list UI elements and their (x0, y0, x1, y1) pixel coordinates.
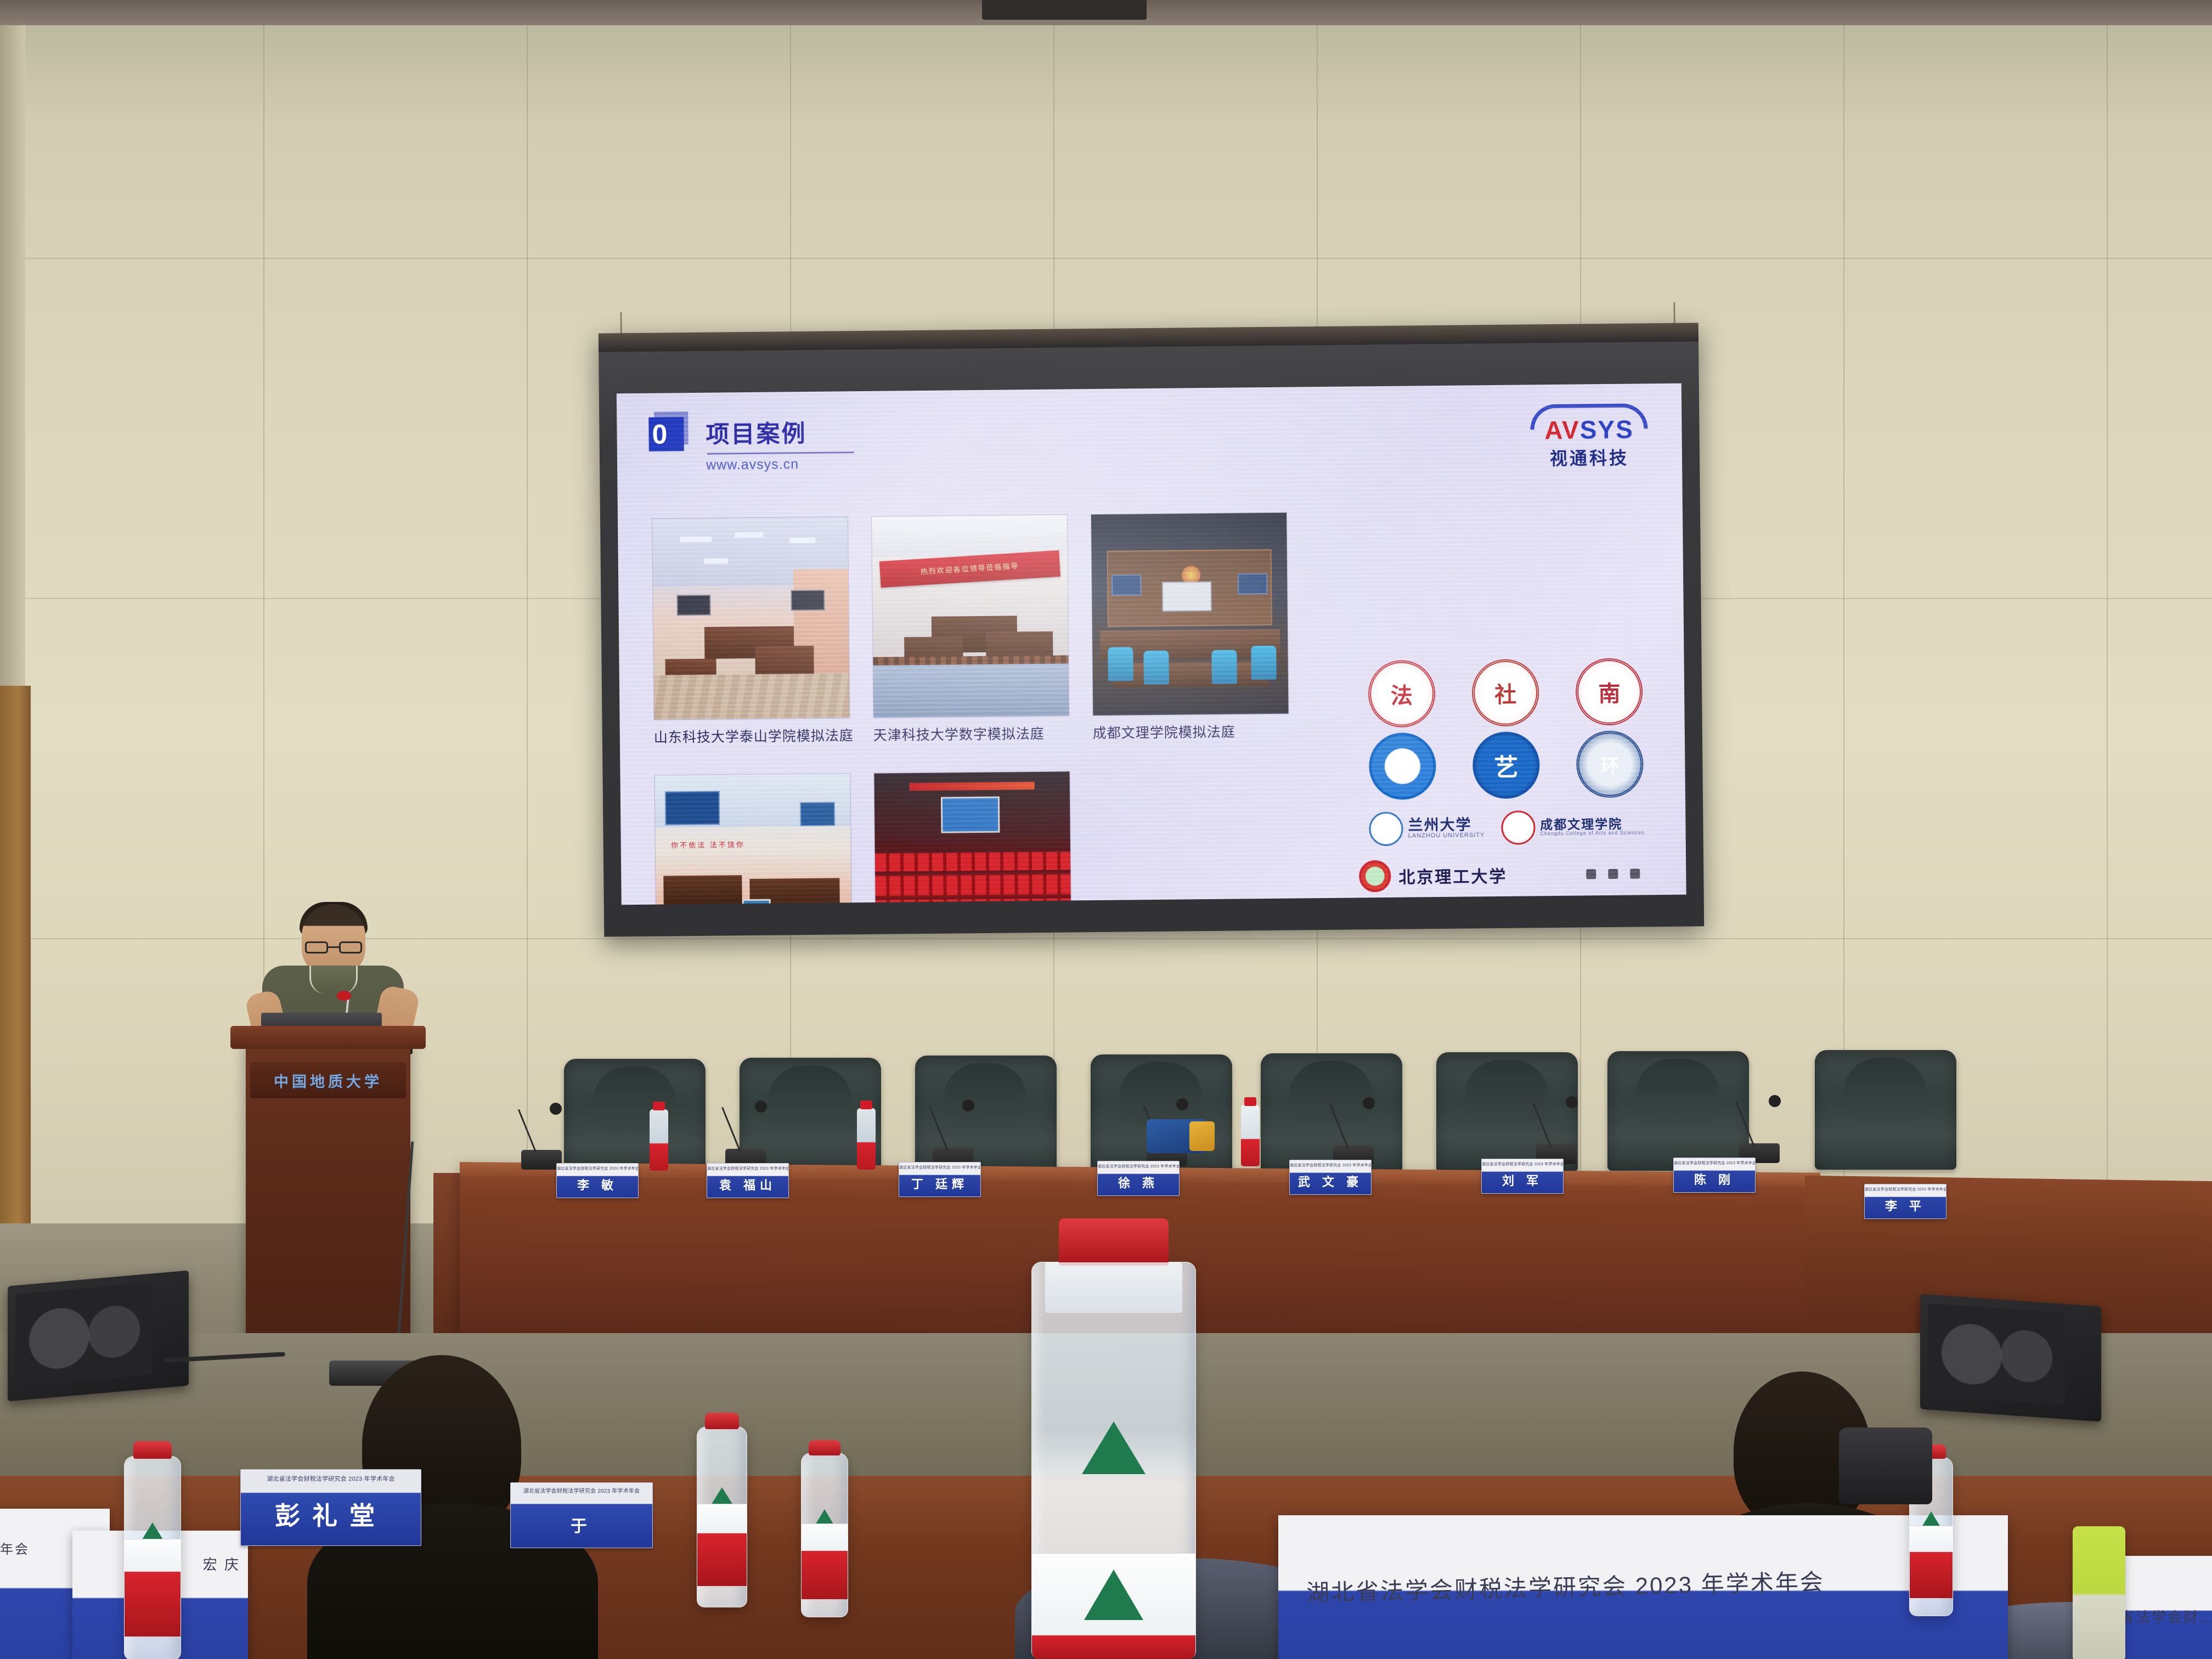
projection-screen: 03 项目案例 www.avsys.cn AVSYS 视通科技 (599, 323, 1704, 936)
case-photo-item: 湖南工商大学模拟法庭 (873, 771, 1072, 905)
presenter-head (302, 904, 365, 975)
foreground-event-banner-text: 湖北省法学会财税法学研究会 2023 年学术年会 (1277, 1508, 2008, 1612)
foreground-name-card-peng-subtitle: 湖北省法学会财税法学研究会 2023 年学术年会 (241, 1474, 421, 1483)
case-photo-item: 成都文理学院模拟法庭 (1091, 512, 1289, 742)
stage-monitor-speaker-left (8, 1271, 189, 1402)
water-bottle (1241, 1105, 1260, 1166)
stage-name-card: 湖北省法学会财税法学研究会 2023 年学术年会 李 平 (1864, 1184, 1946, 1219)
title-underline (707, 452, 854, 455)
stage-name-card-name: 李 平 (1885, 1197, 1926, 1214)
stage-name-card: 湖北省法学会财税法学研究会 2023 年学术年会 陈 刚 (1673, 1158, 1756, 1193)
microphone-head-icon (1363, 1097, 1375, 1109)
client-seal-5: 艺 (1472, 731, 1540, 799)
handbag-accent (1189, 1121, 1215, 1151)
case-photo-thumb-1 (652, 516, 850, 720)
foreground-green-bottle (2073, 1526, 2125, 1659)
ceiling-vent (982, 0, 1147, 20)
foreground-event-banner: 湖北省法学会财税法学研究会 2023 年学术年会 (1278, 1515, 2008, 1659)
foreground-name-card-third-subtitle: 湖北省法学会财税法学研究会 2023 年学术年会 (511, 1486, 652, 1494)
side-door-frame (0, 686, 31, 1256)
slide-title: 项目案例 (706, 414, 854, 450)
microphone-base (521, 1150, 562, 1170)
stage-name-card-subtitle: 湖北省法学会财税法学研究会 2023 年学术年会 (899, 1165, 980, 1170)
stage-chair (1261, 1053, 1402, 1173)
case-photo-thumb-5 (873, 771, 1072, 905)
case-photo-grid: 山东科技大学泰山学院模拟法庭 热烈欢迎各位领导莅临指导 (652, 512, 1304, 905)
case-photo-caption-2: 天津科技大学数字模拟法庭 (873, 723, 1070, 744)
foreground-water-bottle-center-left (697, 1426, 747, 1607)
client-seal-1: 法 (1368, 660, 1435, 727)
avsys-arc-icon (1530, 403, 1647, 430)
client-logo-wall: 法 社 南 工 艺 环 兰州大学 LANZHOU UNIVERSITY (1352, 658, 1661, 892)
foreground-name-card-third-name: 于 (571, 1513, 592, 1543)
conference-hall-photo: 03 项目案例 www.avsys.cn AVSYS 视通科技 (0, 0, 2212, 1659)
client-university-1-en: LANZHOU UNIVERSITY (1408, 833, 1485, 840)
bit-seal-icon (1359, 860, 1391, 893)
stage-name-card-name: 徐 燕 (1118, 1173, 1159, 1191)
client-university-1: 兰州大学 LANZHOU UNIVERSITY (1369, 811, 1485, 846)
foreground-water-bottle-left (124, 1456, 181, 1659)
case-photo-item: 你不依法 法不饶你 灵武职业技术学校模拟法庭 (654, 773, 853, 905)
case-photo-caption-1: 山东科技大学泰山学院模拟法庭 (654, 725, 850, 746)
section-number-digit-2: 3 (668, 419, 684, 449)
stage-name-card-subtitle: 湖北省法学会财税法学研究会 2023 年学术年会 (1674, 1160, 1755, 1166)
podium-top-surface (230, 1026, 426, 1049)
pager-dots (1586, 868, 1661, 879)
client-university-2: 成都文理学院 Chengdu College of Arts and Scien… (1501, 809, 1645, 845)
stage-name-card: 湖北省法学会财税法学研究会 2023 年学术年会 李 敏 (556, 1163, 639, 1198)
client-seal-3: 南 (1576, 658, 1643, 725)
presenter-glasses-icon (305, 941, 362, 953)
presentation-slide: 03 项目案例 www.avsys.cn AVSYS 视通科技 (617, 383, 1686, 905)
microphone-head-icon (550, 1103, 562, 1115)
podium-microphone-head-icon (337, 991, 351, 1001)
stage-chair (564, 1059, 706, 1178)
microphone-head-icon (1566, 1096, 1578, 1108)
client-university-2-cn: 成都文理学院 (1540, 817, 1644, 832)
avsys-chinese-name: 视通科技 (1526, 444, 1652, 470)
foreground-name-card-third: 湖北省法学会财税法学研究会 2023 年学术年会 于 (510, 1482, 653, 1548)
pager-dot (1608, 869, 1618, 879)
stage-name-card: 湖北省法学会财税法学研究会 2023 年学术年会 武 文 豪 (1289, 1160, 1372, 1195)
stage-monitor-speaker-right (1920, 1294, 2101, 1421)
stage-name-card-subtitle: 湖北省法学会财税法学研究会 2023 年学术年会 (557, 1166, 638, 1171)
chengdu-seal-icon (1501, 810, 1536, 845)
stage-chair (1607, 1051, 1749, 1171)
stage-name-card: 湖北省法学会财税法学研究会 2023 年学术年会 刘 军 (1481, 1159, 1564, 1194)
podium-plaque: 中国地质大学 (250, 1062, 406, 1098)
stage-name-card-subtitle: 湖北省法学会财税法学研究会 2023 年学术年会 (707, 1166, 788, 1171)
podium: 中国地质大学 (246, 1037, 410, 1344)
microphone-head-icon (755, 1101, 767, 1113)
stage-name-card-subtitle: 湖北省法学会财税法学研究会 2023 年学术年会 (1865, 1187, 1946, 1192)
lanzhou-seal-icon (1369, 812, 1403, 847)
stage-name-card-subtitle: 湖北省法学会财税法学研究会 2023 年学术年会 (1290, 1163, 1371, 1168)
water-bottle (857, 1108, 876, 1170)
foreground-name-card-peng: 湖北省法学会财税法学研究会 2023 年学术年会 彭礼堂 (240, 1469, 421, 1546)
pager-dot (1630, 868, 1640, 878)
client-seal-6: 环 (1576, 730, 1644, 798)
client-university-2-en: Chengdu College of Arts and Sciences (1540, 831, 1644, 837)
case-photo-thumb-4: 你不依法 法不饶你 (654, 773, 853, 905)
featured-university-name: 北京理工大学 (1398, 863, 1507, 888)
foreground-water-bottle-main (1031, 1262, 1196, 1659)
stage-chair (1815, 1050, 1956, 1170)
case-photo-thumb-3 (1091, 512, 1289, 716)
client-seal-4: 工 (1368, 732, 1436, 800)
section-number-badge: 03 (648, 415, 694, 455)
foreground-name-card-peng-name: 彭礼堂 (275, 1496, 387, 1541)
foreground-black-cup (1839, 1427, 1932, 1504)
foreground-water-bottle-center (801, 1453, 848, 1617)
microphone-head-icon (1176, 1098, 1188, 1110)
stage-name-card-name: 武 文 豪 (1298, 1172, 1363, 1190)
stage-name-card: 湖北省法学会财税法学研究会 2023 年学术年会 丁 廷辉 (899, 1162, 981, 1197)
client-seal-2: 社 (1472, 659, 1539, 726)
avsys-logo: AVSYS 视通科技 (1526, 403, 1652, 470)
microphone-head-icon (1769, 1095, 1781, 1107)
microphone-head-icon (962, 1099, 974, 1111)
case-photo-caption-3: 成都文理学院模拟法庭 (1093, 721, 1289, 742)
stage-name-card-name: 袁 福山 (719, 1176, 776, 1193)
pager-dot (1586, 869, 1596, 879)
stage-name-card-name: 刘 军 (1502, 1171, 1543, 1189)
photo-slogan-text: 你不依法 法不饶你 (671, 839, 745, 850)
presenter-collar (309, 966, 358, 994)
water-bottle (650, 1109, 668, 1171)
section-number-digit-1: 0 (652, 419, 668, 449)
case-photo-item: 热烈欢迎各位领导莅临指导 天津科技大学数字模拟法庭 (871, 514, 1070, 744)
podium-plaque-text: 中国地质大学 (274, 1070, 382, 1091)
client-university-1-cn: 兰州大学 (1408, 817, 1485, 833)
stage-name-card-name: 李 敏 (577, 1176, 618, 1193)
stage-name-card-subtitle: 湖北省法学会财税法学研究会 2023 年学术年会 (1482, 1161, 1563, 1167)
stage-name-card-name: 陈 刚 (1694, 1170, 1735, 1188)
screen-frame: 03 项目案例 www.avsys.cn AVSYS 视通科技 (599, 323, 1704, 936)
stage-name-card: 湖北省法学会财税法学研究会 2023 年学术年会 袁 福山 (707, 1163, 789, 1198)
case-photo-item: 山东科技大学泰山学院模拟法庭 (652, 516, 850, 746)
stage-name-card: 湖北省法学会财税法学研究会 2023 年学术年会 徐 燕 (1097, 1161, 1180, 1196)
stage-name-card-subtitle: 湖北省法学会财税法学研究会 2023 年学术年会 (1098, 1164, 1179, 1169)
stage-name-card-name: 丁 廷辉 (911, 1175, 968, 1192)
case-photo-thumb-2: 热烈欢迎各位领导莅临指导 (871, 514, 1070, 718)
slide-url: www.avsys.cn (706, 456, 854, 473)
slide-header: 03 项目案例 www.avsys.cn (648, 413, 854, 474)
